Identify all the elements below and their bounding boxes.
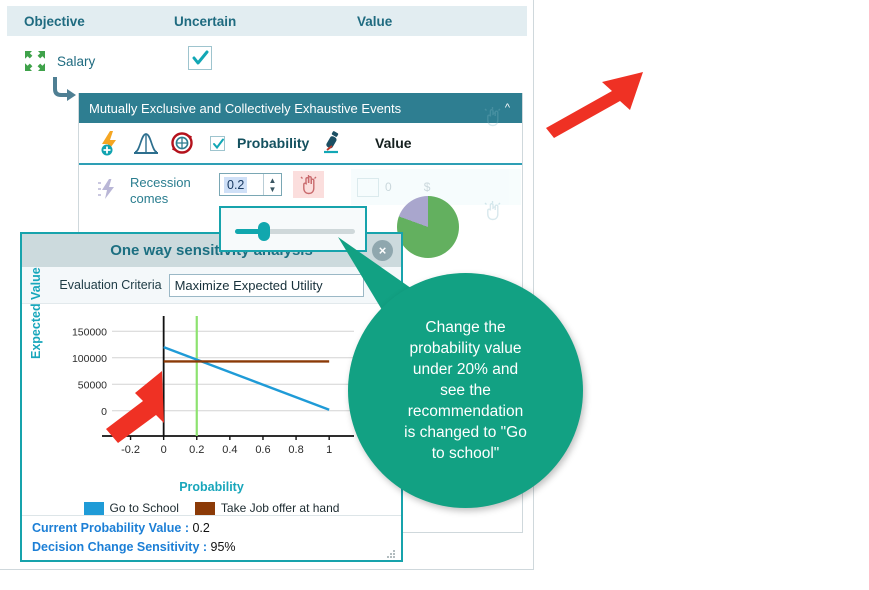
legend-label-1: Take Job offer at hand xyxy=(221,501,340,515)
evaluation-criteria-label: Evaluation Criteria xyxy=(59,278,161,292)
microscope-icon[interactable] xyxy=(317,129,345,157)
column-header-uncertain: Uncertain xyxy=(174,14,357,29)
callout-text: Change the probability value under 20% a… xyxy=(373,317,558,464)
expand-arrows-icon xyxy=(24,50,46,72)
stepper-arrows-icon[interactable]: ▲▼ xyxy=(263,174,281,195)
lightning-icon xyxy=(96,177,120,206)
svg-text:0.8: 0.8 xyxy=(288,444,303,456)
currency-symbol: $ xyxy=(424,180,431,194)
value-click-hand-icon[interactable] xyxy=(484,107,502,132)
resize-grip-icon[interactable] xyxy=(386,546,396,556)
row-label-salary: Salary xyxy=(57,54,95,69)
mece-panel-header[interactable]: Mutually Exclusive and Collectively Exha… xyxy=(79,93,522,123)
chevron-up-icon[interactable]: ^ xyxy=(505,102,510,114)
app-root: Objective Uncertain Value Salary xyxy=(0,0,869,570)
probability-click-hand-button[interactable] xyxy=(293,171,324,198)
current-probability-value: 0.2 xyxy=(192,521,209,535)
sensitivity-key: Decision Change Sensitivity : xyxy=(32,540,207,554)
callout-bubble: Change the probability value under 20% a… xyxy=(348,273,583,508)
current-probability-key: Current Probability Value : xyxy=(32,521,189,535)
uncertain-checkbox[interactable] xyxy=(188,46,212,70)
sensitivity-value: 95% xyxy=(211,540,236,554)
callout-annotation: Change the probability value under 20% a… xyxy=(330,215,600,545)
svg-text:0.6: 0.6 xyxy=(255,444,270,456)
probability-checkbox[interactable] xyxy=(210,136,225,151)
svg-text:0.2: 0.2 xyxy=(189,444,204,456)
probability-input-value[interactable]: 0.2 xyxy=(224,177,247,193)
elbow-arrow-icon xyxy=(50,75,80,105)
distribution-curve-icon[interactable] xyxy=(132,129,160,157)
mece-toolbar: Probability Value xyxy=(79,123,522,165)
event-label-recession: Recession comes xyxy=(130,175,210,207)
red-arrow-recommendation xyxy=(540,60,650,140)
svg-text:100000: 100000 xyxy=(72,353,107,365)
value-placeholder: 0 xyxy=(385,180,392,194)
add-lightning-icon[interactable] xyxy=(96,129,124,157)
value-column-label: Value xyxy=(375,135,412,151)
column-header-value: Value xyxy=(357,14,477,29)
probability-stepper[interactable]: 0.2 ▲▼ xyxy=(219,173,282,196)
legend-swatch-1 xyxy=(195,502,215,515)
mece-panel-title: Mutually Exclusive and Collectively Exha… xyxy=(89,101,401,116)
legend-label-0: Go to School xyxy=(110,501,179,515)
svg-text:150000: 150000 xyxy=(72,326,107,338)
red-arrow-chart xyxy=(100,365,190,450)
legend-swatch-0 xyxy=(84,502,104,515)
table-row[interactable]: Salary xyxy=(7,44,527,78)
refresh-globe-icon[interactable] xyxy=(168,129,196,157)
grid-header-row: Objective Uncertain Value xyxy=(7,6,527,36)
svg-text:0.4: 0.4 xyxy=(222,444,237,456)
slider-thumb[interactable] xyxy=(258,222,270,241)
column-header-objective: Objective xyxy=(24,14,174,29)
value-box-icon xyxy=(357,178,379,197)
probability-column-label: Probability xyxy=(237,135,309,151)
y-axis-label: Expected Value xyxy=(29,267,43,359)
